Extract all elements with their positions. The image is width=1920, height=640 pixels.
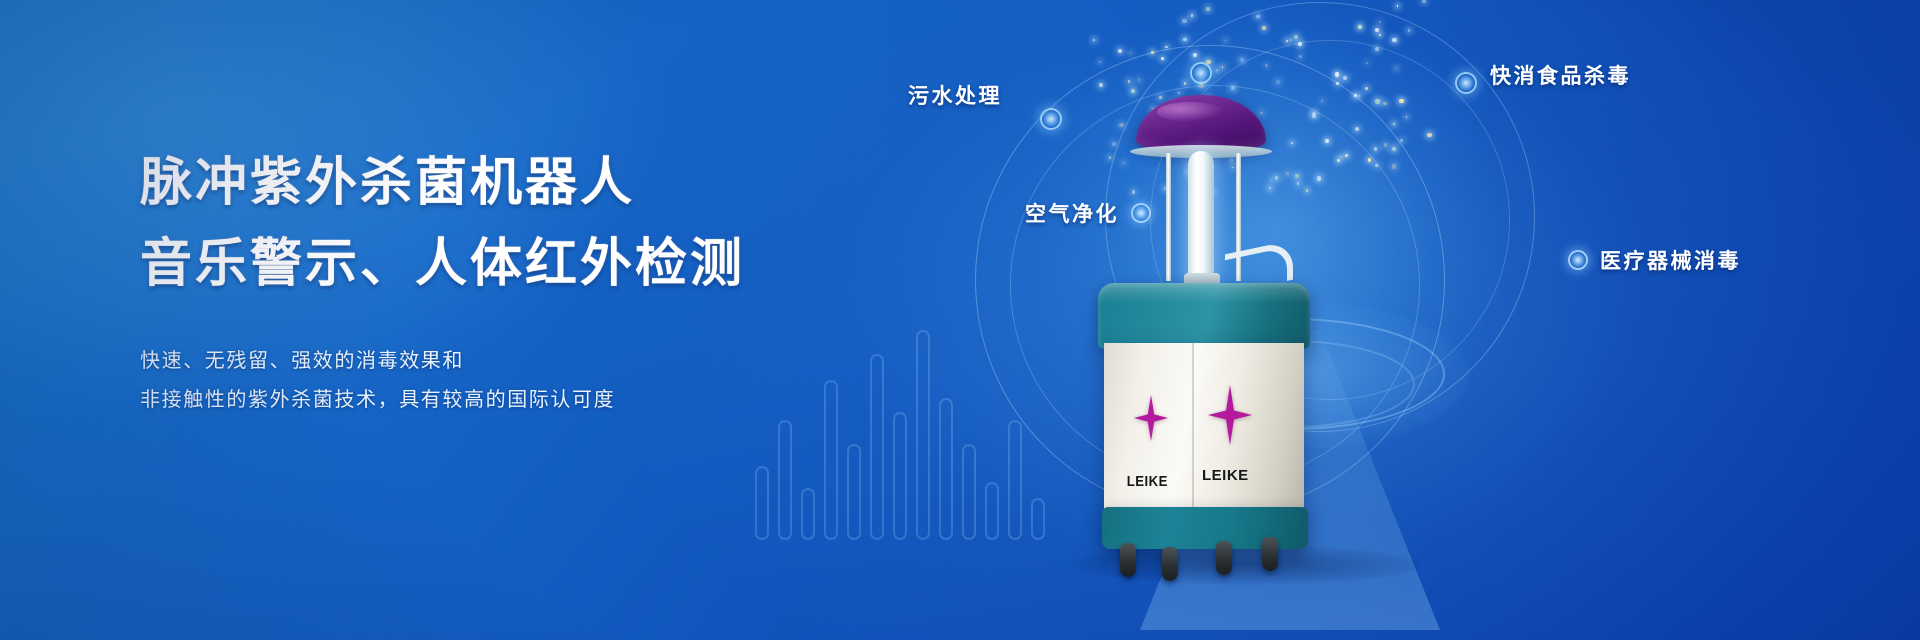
sparkle-icon	[1240, 58, 1244, 62]
sparkle-icon	[1231, 86, 1235, 90]
waveform-bar	[778, 420, 792, 540]
body-edge	[1192, 343, 1194, 513]
waveform-bar	[939, 398, 953, 540]
device-top-cabinet	[1098, 283, 1310, 349]
waveform-bar	[962, 444, 976, 540]
brand-label: LEIKE	[1127, 473, 1168, 490]
uv-tube-icon	[1188, 151, 1214, 281]
sparkle-icon	[1299, 55, 1302, 58]
support-rod	[1166, 153, 1171, 281]
sparkle-icon	[1191, 14, 1193, 16]
sparkle-icon	[1161, 57, 1164, 60]
waveform-bar	[985, 482, 999, 540]
sparkle-icon	[1375, 47, 1379, 51]
node-dot-icon	[1455, 72, 1477, 94]
sparkle-icon	[1335, 72, 1340, 77]
four-point-star-icon	[1208, 385, 1252, 445]
sparkle-icon	[1365, 87, 1367, 89]
feature-label-text: 空气净化	[1025, 198, 1119, 228]
promo-banner: LEIKE LEIKE 脉冲紫外杀菌机器人 音乐警示、人体红外检测 快速、无残留…	[0, 0, 1920, 640]
brand-label: LEIKE	[1202, 467, 1249, 484]
sparkle-icon	[1336, 82, 1339, 85]
description-line: 快速、无残留、强效的消毒效果和	[140, 341, 860, 380]
sparkle-icon	[1178, 92, 1180, 94]
sparkle-icon	[1286, 40, 1288, 42]
feature-label-food[interactable]: 快消食品杀毒	[1490, 60, 1631, 90]
feature-label-text: 医疗器械消毒	[1600, 245, 1741, 275]
page-title: 脉冲紫外杀菌机器人	[140, 150, 860, 217]
waveform-bar	[755, 466, 769, 540]
sparkle-icon	[1199, 83, 1203, 87]
sparkle-icon	[1130, 52, 1131, 53]
sparkle-icon	[1276, 80, 1280, 84]
sparkle-icon	[1422, 0, 1425, 3]
uv-disinfection-robot: LEIKE LEIKE	[1040, 95, 1440, 515]
feature-label-text: 污水处理	[908, 80, 1002, 110]
sparkle-icon	[1099, 61, 1101, 63]
sparkle-icon	[1183, 38, 1186, 41]
node-dot-icon	[1568, 250, 1588, 270]
feature-label-wastewater[interactable]: 污水处理	[908, 80, 1002, 110]
sparkle-icon	[1093, 39, 1095, 41]
sparkle-icon	[1099, 83, 1103, 87]
description-line: 非接触性的紫外杀菌技术，具有较高的国际认可度	[140, 380, 860, 419]
waveform-bar	[1008, 420, 1022, 540]
sparkle-icon	[1397, 5, 1398, 6]
sparkle-icon	[1182, 19, 1187, 24]
sparkle-icon	[1379, 21, 1381, 23]
feature-label-air[interactable]: 空气净化	[1025, 198, 1151, 228]
description-block: 快速、无残留、强效的消毒效果和 非接触性的紫外杀菌技术，具有较高的国际认可度	[140, 341, 860, 419]
caster-wheel-icon	[1120, 543, 1136, 577]
waveform-bar	[870, 354, 884, 540]
feature-label-text: 快消食品杀毒	[1490, 60, 1631, 90]
page-subtitle: 音乐警示、人体红外检测	[140, 231, 860, 298]
waveform-bar	[893, 412, 907, 540]
caster-wheel-icon	[1262, 537, 1278, 571]
caster-wheel-icon	[1162, 547, 1178, 581]
sparkle-icon	[1358, 25, 1361, 28]
node-dot-icon	[1131, 203, 1151, 223]
waveform-bar	[847, 444, 861, 540]
headline-block: 脉冲紫外杀菌机器人 音乐警示、人体红外检测 快速、无残留、强效的消毒效果和 非接…	[140, 150, 860, 419]
sparkle-icon	[1206, 7, 1210, 11]
sparkle-icon	[1256, 15, 1259, 18]
feature-label-medical[interactable]: 医疗器械消毒	[1568, 245, 1741, 275]
sparkle-icon	[1262, 26, 1266, 30]
waveform-bar	[916, 330, 930, 540]
sparkle-icon	[1392, 38, 1397, 43]
waveform-bar	[801, 488, 815, 540]
sparkle-icon	[1294, 35, 1298, 39]
four-point-star-icon	[1134, 395, 1168, 441]
sparkle-icon	[1165, 46, 1168, 49]
caster-wheel-icon	[1216, 541, 1232, 575]
sparkle-icon	[1193, 53, 1197, 57]
